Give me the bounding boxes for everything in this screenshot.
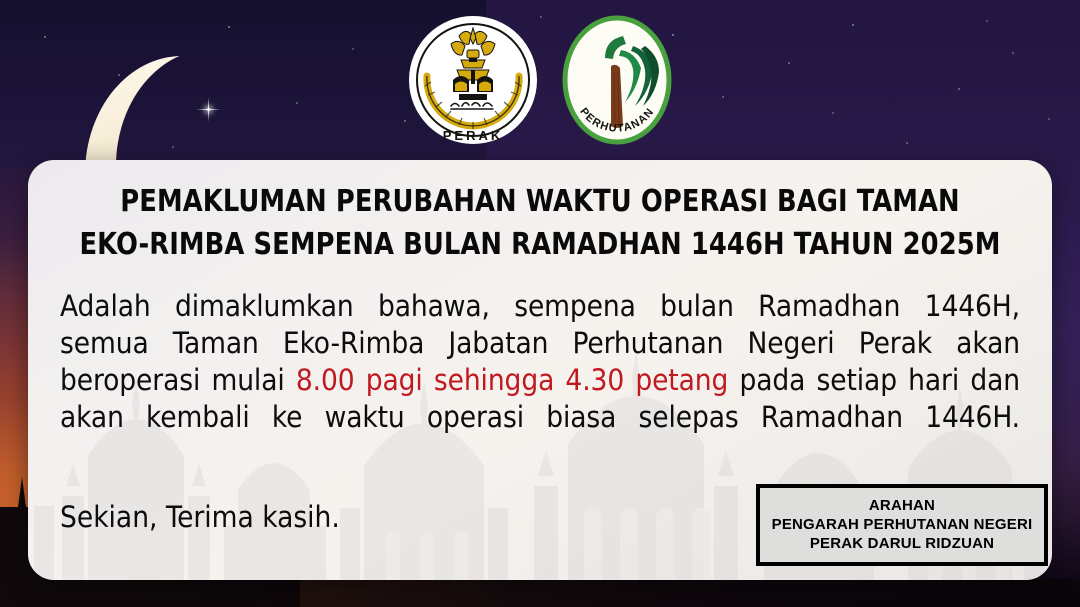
signature-line-3: PERAK DARUL RIDZUAN bbox=[766, 534, 1038, 553]
signature-line-1: ARAHAN bbox=[766, 496, 1038, 515]
signature-line-2: PENGARAH PERHUTANAN NEGERI bbox=[766, 515, 1038, 534]
perak-state-crest: PERAK bbox=[407, 14, 539, 151]
svg-text:PERAK: PERAK bbox=[443, 128, 504, 143]
title-line-1: PEMAKLUMAN PERUBAHAN WAKTU OPERASI BAGI … bbox=[76, 180, 1004, 223]
announcement-body: Adalah dimaklumkan bahawa, sempena bulan… bbox=[54, 288, 1026, 473]
title-line-2: EKO-RIMBA SEMPENA BULAN RAMADHAN 1446H T… bbox=[76, 223, 1004, 266]
announcement-card: PEMAKLUMAN PERUBAHAN WAKTU OPERASI BAGI … bbox=[28, 160, 1052, 580]
logo-row: PERAK PERHUTANAN bbox=[0, 14, 1080, 151]
signature-box: ARAHAN PENGARAH PERHUTANAN NEGERI PERAK … bbox=[756, 484, 1048, 566]
ramadhan-operating-hours-poster: PERAK PERHUTANAN bbox=[0, 0, 1080, 607]
jabatan-perhutanan-logo: PERHUTANAN bbox=[561, 14, 673, 151]
operating-hours-highlight: 8.00 pagi sehingga 4.30 petang bbox=[296, 363, 728, 397]
body-paragraph: Adalah dimaklumkan bahawa, sempena bulan… bbox=[60, 288, 1020, 473]
page-title: PEMAKLUMAN PERUBAHAN WAKTU OPERASI BAGI … bbox=[76, 180, 1004, 266]
